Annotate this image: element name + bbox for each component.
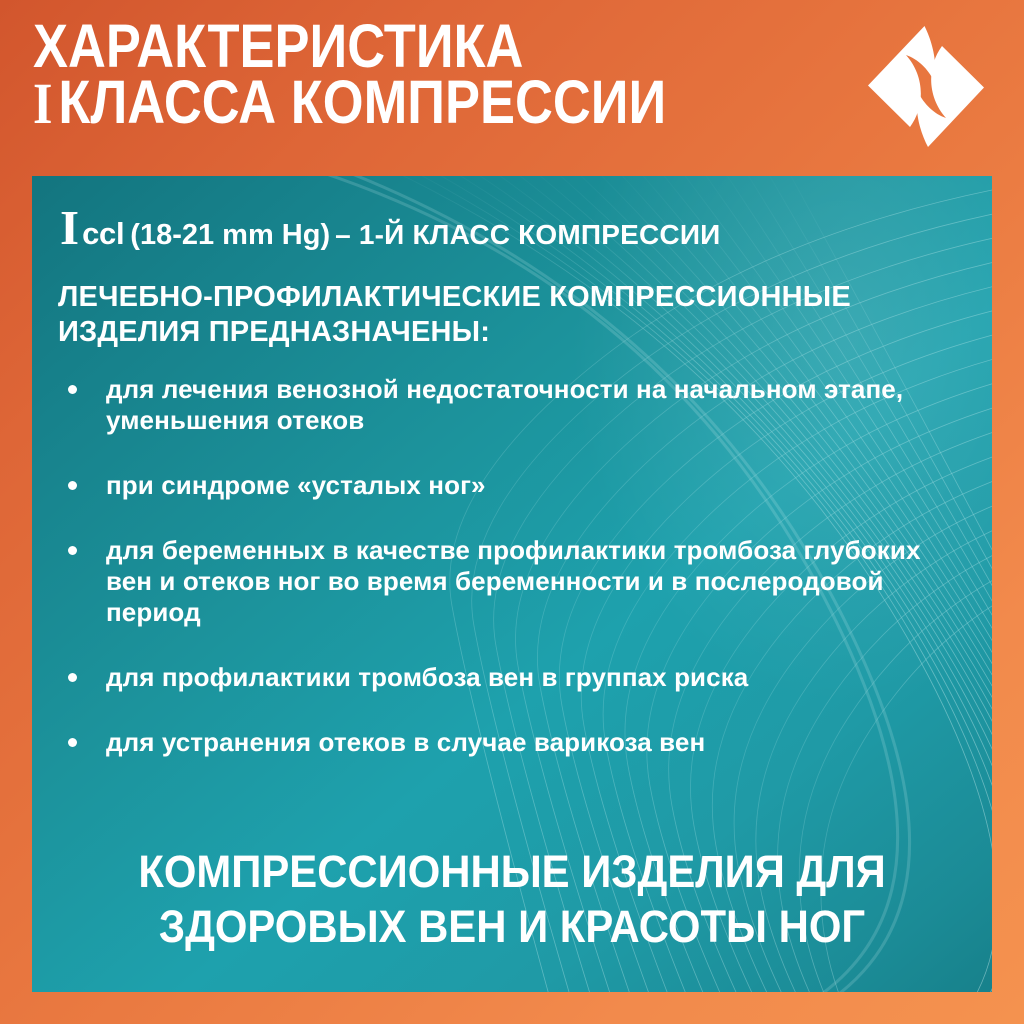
list-item-text: для устранения отеков в случае варикоза … [106, 727, 705, 757]
intro-line1: ЛЕЧЕБНО-ПРОФИЛАКТИЧЕСКИЕ КОМПРЕССИОННЫЕ [58, 280, 938, 315]
list-item: для беременных в качестве профилактики т… [58, 535, 938, 628]
poster-root: ХАРАКТЕРИСТИКА IКЛАССА КОМПРЕССИИ [0, 0, 1024, 1024]
list-item-text: для беременных в качестве профилактики т… [106, 535, 921, 627]
bullet-dot-icon [68, 738, 77, 747]
intro-line2: ИЗДЕЛИЯ ПРЕДНАЗНАЧЕНЫ: [58, 315, 938, 350]
page-title-line1: ХАРАКТЕРИСТИКА [33, 18, 730, 74]
compression-spec-line: Iccl(18-21 mm Hg)– 1-Й КЛАСС КОМПРЕССИИ [60, 208, 721, 252]
header-bar: ХАРАКТЕРИСТИКА IКЛАССА КОМПРЕССИИ [0, 0, 1024, 175]
indications-list: для лечения венозной недостаточности на … [58, 374, 938, 792]
page-title: ХАРАКТЕРИСТИКА IКЛАССА КОМПРЕССИИ [33, 18, 730, 132]
list-item: для профилактики тромбоза вен в группах … [58, 662, 938, 693]
list-item: при синдроме «усталых ног» [58, 470, 938, 501]
bullet-dot-icon [68, 673, 77, 682]
list-item: для устранения отеков в случае варикоза … [58, 727, 938, 758]
roman-numeral-one: I [33, 71, 58, 136]
list-item-text: при синдроме «усталых ног» [106, 470, 486, 500]
bullet-dot-icon [68, 385, 77, 394]
page-title-line2: IКЛАССА КОМПРЕССИИ [33, 74, 730, 132]
bullet-dot-icon [68, 546, 77, 555]
teal-content-panel: Iccl(18-21 mm Hg)– 1-Й КЛАСС КОМПРЕССИИ … [32, 176, 992, 992]
slogan: КОМПРЕССИОННЫЕ ИЗДЕЛИЯ ДЛЯ ЗДОРОВЫХ ВЕН … [66, 844, 959, 954]
list-item-text: для лечения венозной недостаточности на … [106, 374, 903, 435]
spec-roman-numeral: I [60, 200, 82, 255]
spec-ccl-label: ccl [82, 216, 130, 251]
slogan-line2: ЗДОРОВЫХ ВЕН И КРАСОТЫ НОГ [66, 899, 959, 954]
slogan-line1: КОМПРЕССИОННЫЕ ИЗДЕЛИЯ ДЛЯ [66, 844, 959, 899]
spec-pressure-range: (18-21 mm Hg) [130, 219, 335, 251]
spec-class-text: – 1-Й КЛАСС КОМПРЕССИИ [335, 219, 720, 250]
bullet-dot-icon [68, 481, 77, 490]
list-item-text: для профилактики тромбоза вен в группах … [106, 662, 748, 692]
page-title-line2-text: КЛАССА КОМПРЕССИИ [58, 68, 666, 136]
brand-logo [862, 23, 990, 151]
list-item: для лечения венозной недостаточности на … [58, 374, 938, 436]
panel-content: Iccl(18-21 mm Hg)– 1-Й КЛАСС КОМПРЕССИИ … [32, 176, 992, 992]
intro-heading: ЛЕЧЕБНО-ПРОФИЛАКТИЧЕСКИЕ КОМПРЕССИОННЫЕ … [58, 280, 938, 350]
